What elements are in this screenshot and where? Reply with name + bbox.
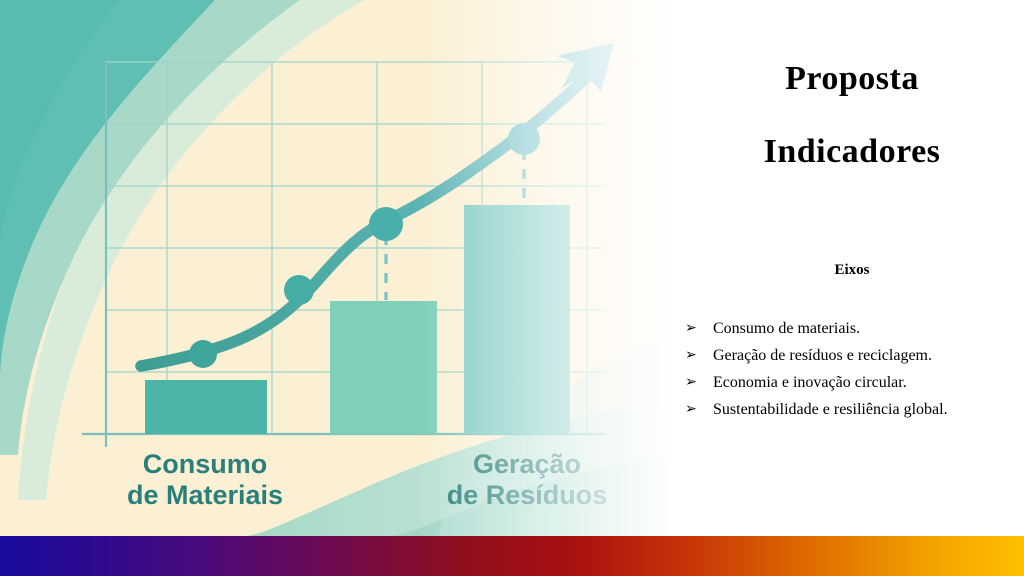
list-item: ➢ Geração de resíduos e reciclagem. [685,345,995,366]
page-title-line-1: Proposta [680,60,1024,98]
bullet-list: ➢ Consumo de materiais. ➢ Geração de res… [685,318,995,426]
bar-2 [330,301,437,434]
list-item: ➢ Consumo de materiais. [685,318,995,339]
arrow-bullet-icon: ➢ [685,345,713,366]
arrow-bullet-icon: ➢ [685,318,713,339]
list-item: ➢ Economia e inovação circular. [685,372,995,393]
list-item-label: Consumo de materiais. [713,318,995,339]
bar-3 [464,205,570,434]
list-item: ➢ Sustentabilidade e resiliência global. [685,399,995,420]
category-label-2-line2: de Resíduos [447,480,608,510]
list-item-label: Economia e inovação circular. [713,372,995,393]
list-item-label: Sustentabilidade e resiliência global. [713,399,995,420]
data-point-marker [284,275,314,305]
arrow-bullet-icon: ➢ [685,372,713,393]
list-item-label: Geração de resíduos e reciclagem. [713,345,995,366]
bottom-gradient-band [0,536,1024,576]
data-point-marker [369,207,403,241]
chart-illustration: Consumo de Materiais Geração de Resíduos [0,0,700,536]
category-label-1-line2: de Materiais [127,480,283,510]
data-point-marker [189,340,217,368]
page-title-line-2: Indicadores [680,133,1024,171]
bar-1 [145,380,267,434]
slide-canvas: Consumo de Materiais Geração de Resíduos… [0,0,1024,576]
text-column: Proposta Indicadores Eixos ➢ Consumo de … [680,0,1024,536]
chart-svg: Consumo de Materiais Geração de Resíduos [0,0,700,536]
data-point-marker [508,123,540,155]
category-label-2-line1: Geração [473,449,581,479]
section-heading: Eixos [680,262,1024,279]
category-label-1-line1: Consumo [143,449,268,479]
arrow-bullet-icon: ➢ [685,399,713,420]
